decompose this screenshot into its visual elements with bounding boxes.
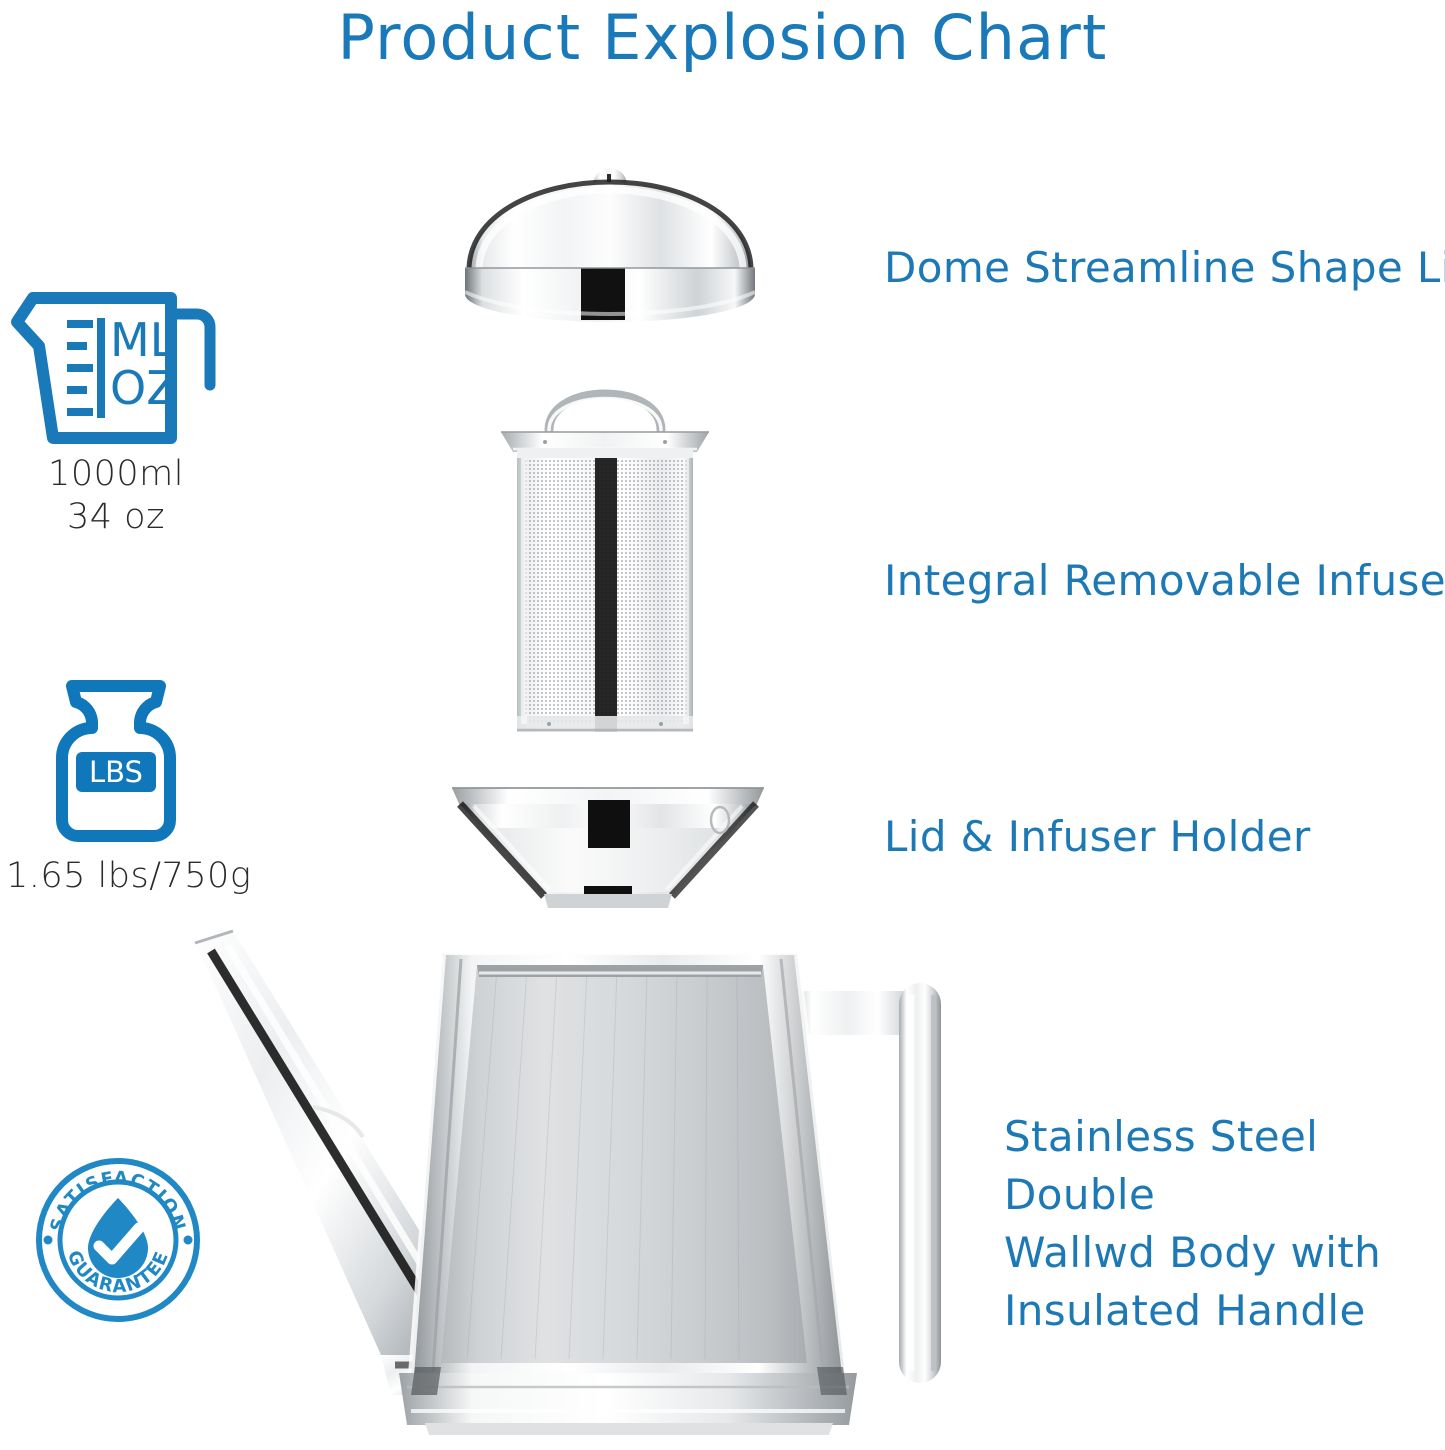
- part-funnel-holder: [450, 778, 766, 923]
- part-dome-lid: [455, 160, 765, 340]
- callout-label-infuser: Integral Removable Infuser: [884, 556, 1445, 605]
- infuser-wire-handle: [549, 394, 661, 430]
- weight-unit-lbs: LBS: [89, 755, 143, 789]
- callout-label-body-line-2: Wallwd Body with: [1004, 1224, 1444, 1282]
- part-mesh-infuser-basket: [497, 368, 713, 740]
- callout-label-body: Stainless Steel Double Wallwd Body with …: [1004, 1108, 1444, 1340]
- callout-label-holder: Lid & Infuser Holder: [884, 812, 1311, 861]
- spec-weight: LBS 1.65 lbs/750g: [6, 676, 226, 898]
- page-title: Product Explosion Chart: [0, 0, 1445, 78]
- kettle-brushed-panel: [441, 965, 807, 1363]
- callout-label-body-line-3: Insulated Handle: [1004, 1282, 1444, 1340]
- callout-label-body-line-1: Stainless Steel Double: [1004, 1108, 1444, 1224]
- weight-icon: LBS: [36, 676, 196, 851]
- volume-caption-ml: 1000ml: [6, 453, 226, 496]
- volume-caption-oz: 34 oz: [6, 496, 226, 539]
- measuring-cup-unit-oz: OZ: [110, 361, 178, 415]
- spec-volume: ML OZ 1000ml 34 oz: [6, 278, 226, 539]
- water-drop-check-icon: [88, 1198, 148, 1278]
- weight-caption: 1.65 lbs/750g: [6, 855, 226, 898]
- measuring-cup-icon: ML OZ: [11, 278, 221, 453]
- part-kettle-body: [185, 925, 975, 1450]
- kettle-base: [399, 1367, 857, 1435]
- kettle-spout: [195, 931, 447, 1395]
- callout-label-lid: Dome Streamline Shape Lid: [884, 243, 1445, 292]
- satisfaction-guarantee-seal-icon: SATISFACTION GUARANTEE: [36, 1158, 200, 1322]
- measuring-cup-unit-ml: ML: [110, 313, 176, 367]
